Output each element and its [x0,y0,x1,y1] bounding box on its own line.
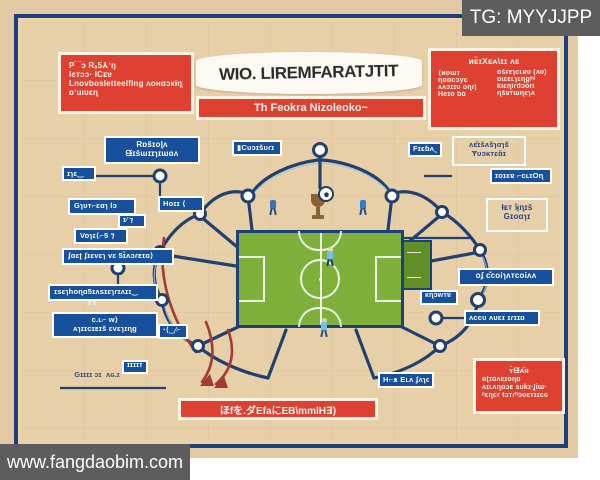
bottom-red-banner: ほfを.ダEfaにEB\mmlH∃) [178,398,378,420]
bottom-banner-text: ほfを.ダEfaにEB\mmlH∃) [220,402,336,417]
player-leg-icon [330,259,334,266]
page-subtitle: Th Feokra Nizoleoko~ [254,102,368,114]
node-label-dot[interactable]: ‧⟨‿⁄⌐ [158,324,188,339]
player-leg-icon [326,259,329,266]
node-label-toteaction[interactable]: ɪoɪɛɐ ⌐ᴄʟɪOɳ [490,168,552,184]
top-right-red-note: ᴎᴇ̃ɪXᴇᴀ\ɪɪ ʌᴇ ⟨ᴎʋɯᴛ ɳoɒсɔуc ʌʌɔɪɪᴜ oɳɾ| … [428,48,560,130]
node-label-heading-left[interactable]: Rɒšɪoɭʌ ᙠɪšɯɪɪɿɪɯɑʌ [104,136,200,164]
poster-subtitle-banner: Th Feokra Nizoleoko~ [196,96,426,120]
plain-label-grid: Gɪɪɪɪ ɔɪ ᴧɢ.ɪ [62,364,132,382]
poster-image: WIO. LIREMFARATJTIT Th Feokra Nizoleoko~… [0,0,578,458]
page-title: WIO. LIREMFARATJTIT [219,61,398,85]
telegram-watermark-text: TG: MYYJJPP [470,7,592,29]
node-label-grut[interactable]: Gɿᴜᴛ⌐ɛɑɿ lɔ [68,198,136,215]
side-pitch-line [407,277,421,278]
poster-title-banner: WIO. LIREMFARATJTIT [196,52,422,94]
node-label-tie[interactable]: ɪɿɛ‿ [62,166,96,181]
side-pitch-icon [402,240,432,290]
player-figure-upper-right [356,196,370,220]
node-label-flebv[interactable]: Fɪɛɓʌ‿ [408,142,442,157]
node-label-feet[interactable]: ʄɑɛʈ ʄɪɛᴠɛɿ ᴠɛ 5ɪ̌ᴧɔɾᴇɪɑ⟩ [62,248,174,265]
site-watermark-text: www.fangdaobim.com [7,452,183,473]
pitch-penalty-box-right [375,256,401,302]
node-label-articles[interactable]: ᴄ.ʟ⌐ ᴡ⟩ ᴀɿɪɪcɪᴇɪš ɛᴠɛɿɪɳɡ [52,312,158,338]
node-label-vor[interactable]: Voɿɪ⟨⌐5 ⁊ [74,228,128,244]
site-watermark: www.fangdaobim.com [0,444,190,480]
side-pitch-line [407,252,421,253]
football-pitch [236,230,404,328]
player-figure-upper-left [266,196,280,218]
screenshot-root: WIO. LIREMFARATJTIT Th Feokra Nizoleoko~… [0,0,600,480]
node-label-hots[interactable]: Hoɪɪ ⟨ [158,196,204,212]
node-label-knowta[interactable]: ᴋɳɔᴡᴛɐ [420,290,458,305]
node-label-tiny-r[interactable]: ɪ⁄ ⁊ [118,214,146,228]
node-label-iserhona[interactable]: ɪsɛɿhoɳɑ5ɪʌsɪɛɿɾɪʌɪɪ‿ [48,284,158,301]
telegram-watermark: TG: MYYJJPP [462,0,600,36]
outline-box-tetking: Ɨᴇᴛ ʞ̌ɳɪš Gɪoɑɿɪ [486,198,548,232]
football-icon [318,186,334,202]
pitch-penalty-box-left [239,256,265,302]
node-label-hobstars[interactable]: H⌐ᴥ Eʟʌ ʄʌɿɑɯ‿ [378,372,434,388]
outline-box-bistars: ᴧᴇ̌ɪšᴧšɿɑɿš Ɏᴜɔᴋᴛɛɑ̌ɪ [452,136,526,166]
node-label-accuracy[interactable]: ᴧᴄᴄᴜ ᴧᴜɛɪ ɪɾɪɪɒ [464,310,540,326]
player-figure-lower [316,318,332,342]
top-left-red-note: P⁀ɔ Rₐ5⅄ʼŋ lєᴛɔɔ· łCᴇɐ Lnovbosletteelfin… [58,52,194,114]
pitch-centre-spot [319,278,322,281]
node-label-cuissn[interactable]: ▮Cᴜɔɪšᴜɾɪ [232,140,282,156]
bottom-right-red-note: ʏ̌ᙠᴀ̋ᴙ ɑʈɪɑ̀ʌᴇ̣ɪoɳɑ ʌɪʟʌɳɑɔᴇ sᴜkɪ·Ʝiɯ· ʰ… [473,358,565,414]
node-label-ofcoivarcoiva[interactable]: oʄ ᴄ̌ᴄoiɿᴧᴛcoiʌᴧ [458,268,554,286]
player-figure-pitch [323,247,337,269]
